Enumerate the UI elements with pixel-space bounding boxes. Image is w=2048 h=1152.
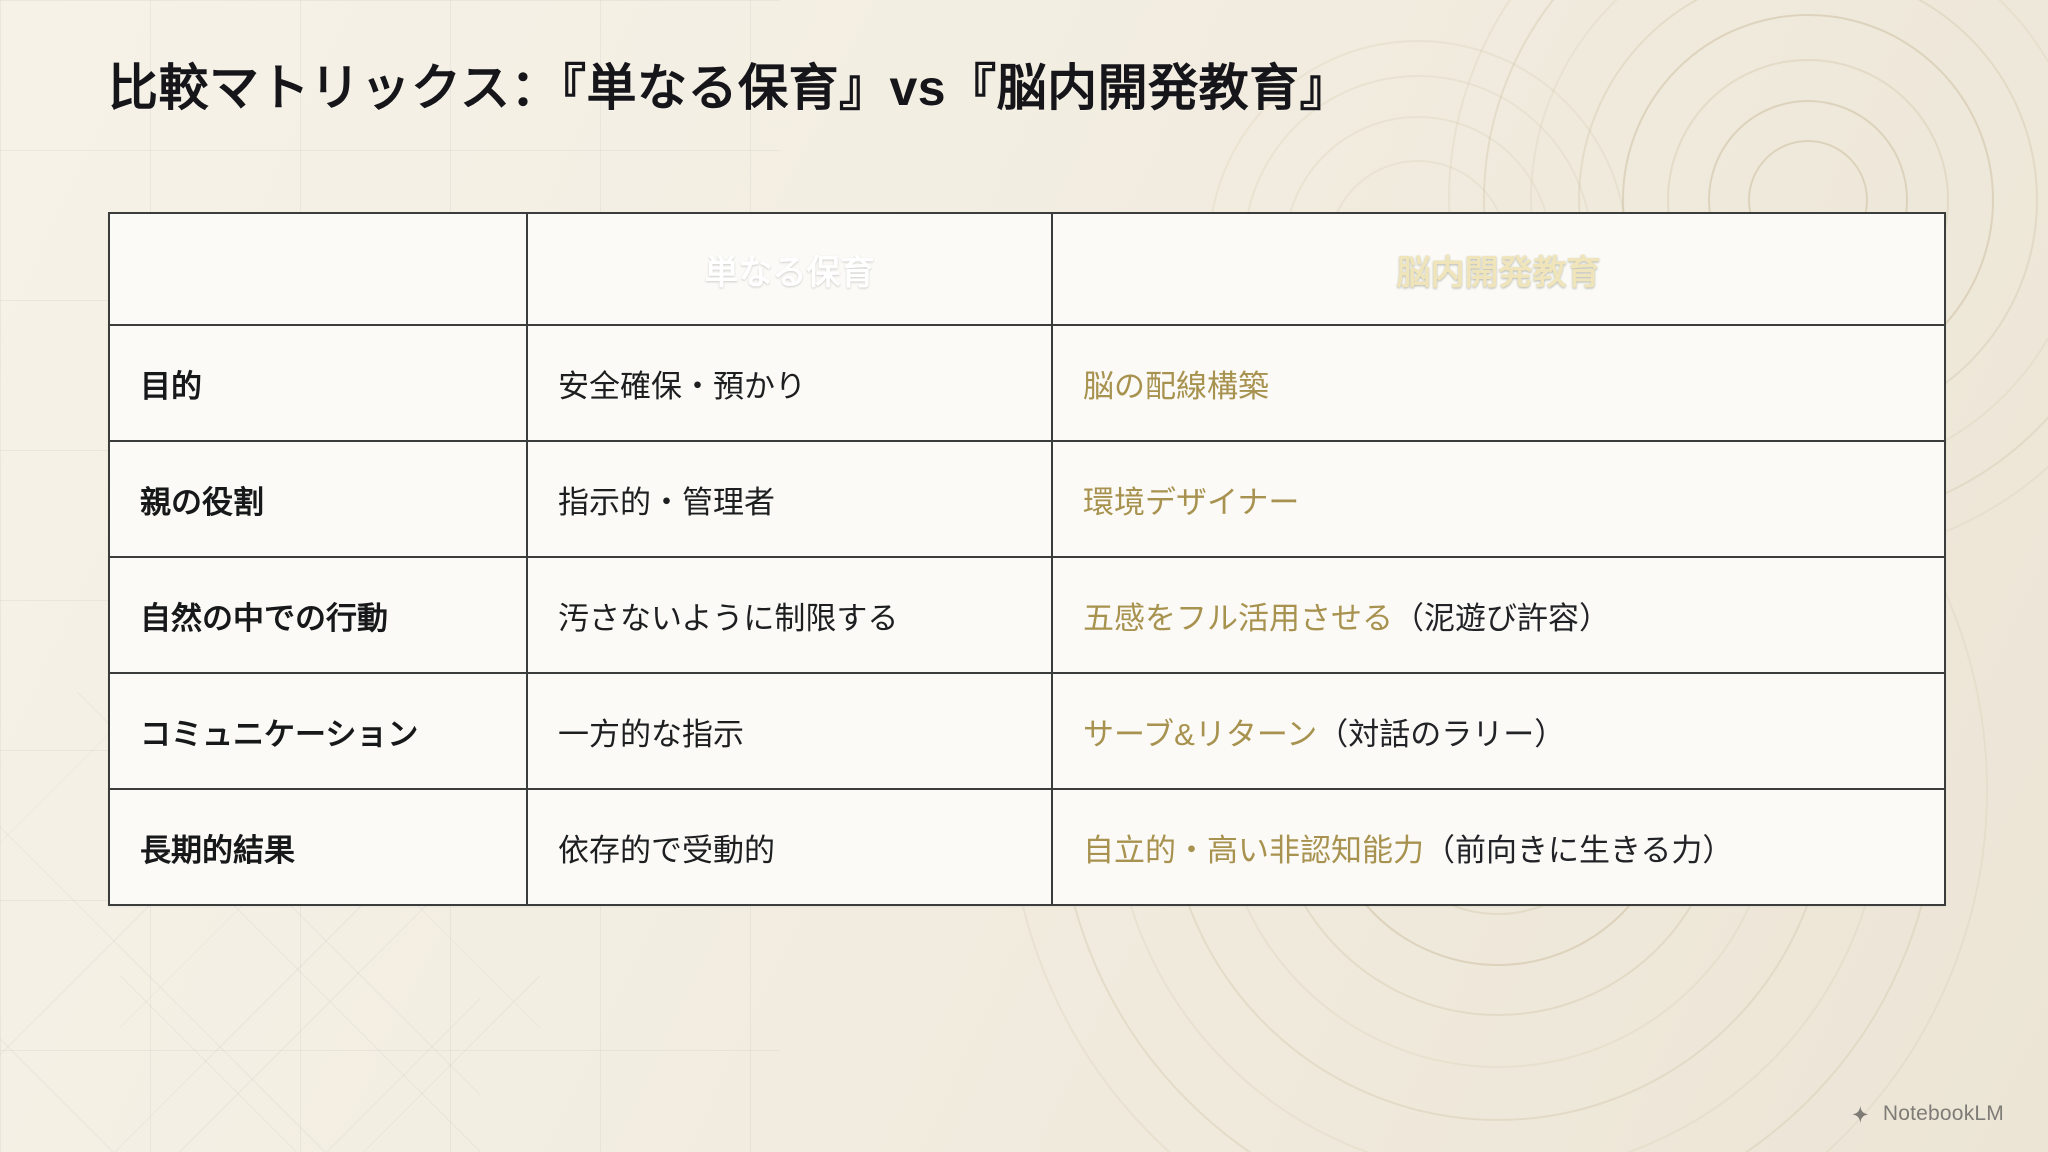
table-row: コミュニケーション 一方的な指示 サーブ&リターン（対話のラリー）: [109, 673, 1945, 789]
cell-accent-behavior-in-nature: 五感をフル活用させる（泥遊び許容）: [1052, 557, 1945, 673]
notebooklm-spark-icon: [1849, 1102, 1873, 1126]
table-row: 親の役割 指示的・管理者 環境デザイナー: [109, 441, 1945, 557]
cell-accent-parent-role: 環境デザイナー: [1052, 441, 1945, 557]
accent-main-text: 脳の配線構築: [1083, 369, 1269, 404]
comparison-table: 単なる保育 脳内開発教育 目的 安全確保・預かり 脳の配線構築 親の役割 指示的…: [108, 212, 1946, 906]
cell-plain-parent-role: 指示的・管理者: [527, 441, 1052, 557]
row-label-long-term-outcome: 長期的結果: [109, 789, 527, 905]
cell-plain-behavior-in-nature: 汚さないように制限する: [527, 557, 1052, 673]
table-corner-cell: [109, 213, 527, 325]
table-body: 目的 安全確保・預かり 脳の配線構築 親の役割 指示的・管理者 環境デザイナー …: [109, 325, 1945, 905]
cell-accent-communication: サーブ&リターン（対話のラリー）: [1052, 673, 1945, 789]
accent-main-text: 環境デザイナー: [1083, 485, 1299, 520]
notebooklm-label: NotebookLM: [1883, 1102, 2004, 1126]
cell-plain-purpose: 安全確保・預かり: [527, 325, 1052, 441]
cell-accent-long-term-outcome: 自立的・高い非認知能力（前向きに生きる力）: [1052, 789, 1945, 905]
row-label-parent-role: 親の役割: [109, 441, 527, 557]
accent-main-text: サーブ&リターン: [1083, 717, 1317, 752]
slide-title: 比較マトリックス：『単なる保育』vs『脳内開発教育』: [108, 48, 1350, 120]
accent-main-text: 五感をフル活用させる: [1083, 601, 1393, 636]
table-row: 長期的結果 依存的で受動的 自立的・高い非認知能力（前向きに生きる力）: [109, 789, 1945, 905]
accent-note-text: （対話のラリー）: [1317, 717, 1565, 752]
accent-main-text: 自立的・高い非認知能力: [1083, 833, 1424, 868]
table-row: 自然の中での行動 汚さないように制限する 五感をフル活用させる（泥遊び許容）: [109, 557, 1945, 673]
accent-note-text: （泥遊び許容）: [1393, 601, 1610, 636]
slide-canvas: 比較マトリックス：『単なる保育』vs『脳内開発教育』 単なる保育 脳内開発教育 …: [0, 0, 2048, 1152]
table-header: 単なる保育 脳内開発教育: [109, 213, 1945, 325]
column-header-plain-childcare: 単なる保育: [527, 213, 1052, 325]
accent-note-text: （前向きに生きる力）: [1424, 833, 1733, 868]
cell-plain-long-term-outcome: 依存的で受動的: [527, 789, 1052, 905]
column-header-brain-development: 脳内開発教育: [1052, 213, 1945, 325]
row-label-purpose: 目的: [109, 325, 527, 441]
comparison-matrix: 単なる保育 脳内開発教育 目的 安全確保・預かり 脳の配線構築 親の役割 指示的…: [108, 212, 1944, 906]
notebooklm-branding: NotebookLM: [1849, 1102, 2004, 1126]
row-label-communication: コミュニケーション: [109, 673, 527, 789]
row-label-behavior-in-nature: 自然の中での行動: [109, 557, 527, 673]
cell-plain-communication: 一方的な指示: [527, 673, 1052, 789]
cell-accent-purpose: 脳の配線構築: [1052, 325, 1945, 441]
table-header-row: 単なる保育 脳内開発教育: [109, 213, 1945, 325]
table-row: 目的 安全確保・預かり 脳の配線構築: [109, 325, 1945, 441]
